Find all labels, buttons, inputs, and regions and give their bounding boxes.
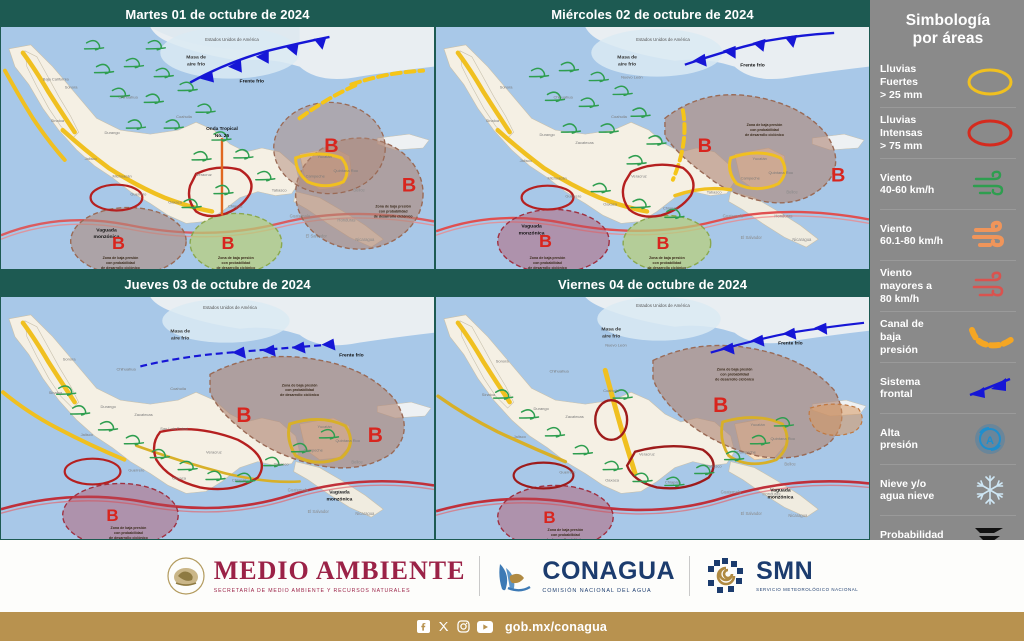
svg-text:Nicaragua: Nicaragua [788, 513, 808, 518]
svg-text:con probabilidad: con probabilidad [285, 388, 314, 392]
svg-text:B: B [656, 233, 669, 253]
svg-text:monzónica: monzónica [326, 496, 352, 502]
svg-text:aire frío: aire frío [602, 334, 620, 340]
svg-text:Zona de baja presión: Zona de baja presión [282, 383, 318, 387]
svg-text:Yucatán: Yucatán [751, 422, 765, 427]
svg-text:Honduras: Honduras [762, 491, 780, 496]
svg-text:Durango: Durango [534, 406, 550, 411]
svg-text:Honduras: Honduras [337, 217, 355, 222]
svg-text:A: A [986, 435, 994, 447]
legend-line-3: 80 km/h [880, 293, 919, 305]
svg-text:B: B [324, 135, 338, 157]
legend-item-sistema-frontal[interactable]: Sistema frontal [880, 362, 1016, 413]
svg-text:Estados Unidos de América: Estados Unidos de América [636, 37, 690, 42]
legend-line-2: 60.1-80 km/h [880, 235, 943, 247]
svg-text:de desarrollo ciclónico: de desarrollo ciclónico [109, 536, 149, 539]
legend-line-1: Lluvias [880, 114, 916, 126]
svg-text:con probabilidad: con probabilidad [750, 128, 779, 132]
svg-text:Zacatecas: Zacatecas [565, 414, 583, 419]
legend-line-2: frontal [880, 388, 913, 400]
cold-front-icon [964, 369, 1016, 407]
svg-text:aire frío: aire frío [618, 62, 636, 68]
svg-text:Nuevo León: Nuevo León [605, 343, 626, 348]
svg-text:Jalisco: Jalisco [81, 432, 94, 437]
logo-conagua: CONAGUA COMISIÓN NACIONAL DEL AGUA [480, 556, 689, 596]
trough-dashed-icon [964, 318, 1016, 356]
svg-text:San Luis Potosí: San Luis Potosí [160, 426, 189, 431]
panel-2-map[interactable]: Estados Unidos de América Masa de aire f… [436, 27, 869, 269]
legend-title: Simbología por áreas [880, 6, 1016, 57]
svg-text:Chiapas: Chiapas [663, 205, 678, 210]
svg-text:aire frío: aire frío [171, 336, 189, 342]
conagua-eagle-icon [494, 556, 534, 596]
svg-text:Chiapas: Chiapas [665, 479, 680, 484]
legend-line-2: mayores a [880, 280, 932, 292]
svg-text:Belice: Belice [784, 462, 796, 467]
svg-text:Honduras: Honduras [329, 489, 347, 494]
svg-text:de desarrollo ciclónico: de desarrollo ciclónico [280, 393, 320, 397]
svg-text:Zona de baja presión: Zona de baja presión [530, 256, 566, 260]
svg-text:B: B [106, 506, 118, 525]
svg-text:con probabilidad: con probabilidad [106, 261, 135, 265]
legend-line-1: Nieve y/o [880, 478, 926, 490]
svg-text:de desarrollo ciclónico: de desarrollo ciclónico [101, 266, 141, 269]
svg-text:Frente frío: Frente frío [240, 79, 265, 85]
svg-text:Sinaloa: Sinaloa [482, 392, 496, 397]
legend-line-2: 40-60 km/h [880, 184, 934, 196]
svg-text:No. 25: No. 25 [215, 133, 230, 139]
svg-text:Nicaragua: Nicaragua [355, 511, 375, 516]
svg-text:Guatemala: Guatemala [721, 489, 742, 494]
svg-text:con probabilidad: con probabilidad [720, 372, 749, 376]
svg-text:Chihuahua: Chihuahua [118, 94, 138, 99]
svg-text:Sonora: Sonora [500, 84, 514, 89]
social-bar: gob.mx/conagua [0, 612, 1024, 641]
maps-grid: Martes 01 de octubre de 2024 [0, 0, 870, 540]
svg-text:Tabasco: Tabasco [272, 188, 288, 193]
legend-list: Lluvias Fuertes > 25 mm Lluvias Intensas… [880, 57, 1016, 566]
svg-text:Quintana Roo: Quintana Roo [335, 438, 360, 443]
svg-text:Yucatán: Yucatán [753, 156, 767, 161]
svg-text:Veracruz: Veracruz [196, 172, 212, 177]
svg-text:Zona de baja presión: Zona de baja presión [548, 528, 584, 532]
svg-text:con probabilidad: con probabilidad [551, 533, 580, 537]
svg-text:B: B [368, 424, 383, 447]
svg-text:Sinaloa: Sinaloa [486, 118, 500, 123]
svg-text:Sinaloa: Sinaloa [49, 390, 63, 395]
svg-text:Zona de baja presión: Zona de baja presión [218, 256, 254, 260]
svg-text:Tabasco: Tabasco [707, 464, 723, 469]
svg-text:Estados Unidos de América: Estados Unidos de América [203, 305, 257, 310]
legend-label-viento-60-80: Viento 60.1-80 km/h [880, 223, 960, 248]
svg-text:Sonora: Sonora [65, 84, 79, 89]
svg-text:Campeche: Campeche [737, 450, 757, 455]
legend-line-2: Fuertes [880, 76, 918, 88]
medio-ambiente-title: MEDIO AMBIENTE [214, 558, 466, 584]
svg-text:Oaxaca: Oaxaca [605, 477, 619, 482]
weather-forecast-infographic: Martes 01 de octubre de 2024 [0, 0, 1024, 641]
legend-line-3: > 25 mm [880, 89, 922, 101]
legend-label-viento-mayores-80: Viento mayores a 80 km/h [880, 267, 960, 305]
panel-1-title: Martes 01 de octubre de 2024 [1, 1, 434, 27]
svg-text:El Salvador: El Salvador [741, 511, 763, 516]
legend-line-3: > 75 mm [880, 140, 922, 152]
legend-line-1: Alta [880, 427, 900, 439]
legend-item-alta-presion[interactable]: Alta presión A [880, 413, 1016, 464]
svg-text:Oaxaca: Oaxaca [172, 475, 186, 480]
svg-text:Chihuahua: Chihuahua [116, 366, 136, 371]
instagram-icon[interactable] [457, 620, 470, 633]
panel-2-title: Miércoles 02 de octubre de 2024 [436, 1, 869, 27]
youtube-icon[interactable] [477, 621, 493, 633]
svg-text:de desarrollo ciclónico: de desarrollo ciclónico [745, 133, 785, 137]
legend-line-1: Viento [880, 172, 912, 184]
svg-text:Yucatán: Yucatán [318, 424, 332, 429]
legend-line-1: Canal de [880, 318, 924, 330]
svg-text:Belice: Belice [353, 188, 365, 193]
svg-text:B: B [402, 175, 416, 197]
svg-text:Veracruz: Veracruz [206, 450, 222, 455]
svg-text:Chiapas: Chiapas [228, 204, 243, 209]
svg-text:Coahuila: Coahuila [176, 114, 192, 119]
x-icon[interactable] [437, 620, 450, 633]
svg-text:Durango: Durango [540, 132, 556, 137]
svg-text:Michoacán: Michoacán [112, 174, 131, 179]
svg-text:Jalisco: Jalisco [520, 158, 533, 163]
svg-text:de desarrollo ciclónico: de desarrollo ciclónico [528, 266, 568, 269]
svg-text:Zacatecas: Zacatecas [575, 140, 593, 145]
wind-red-icon [964, 267, 1016, 305]
smn-title: SMN [756, 559, 858, 584]
svg-text:Nicaragua: Nicaragua [355, 237, 375, 242]
svg-text:Baja California: Baja California [43, 77, 70, 82]
svg-text:El Salvador: El Salvador [741, 235, 763, 240]
legend-label-viento-40-60: Viento 40-60 km/h [880, 172, 960, 197]
medio-ambiente-subtitle: SECRETARÍA DE MEDIO AMBIENTE Y RECURSOS … [214, 588, 466, 594]
svg-text:Quintana Roo: Quintana Roo [770, 436, 795, 441]
svg-text:con probabilidad: con probabilidad [379, 209, 408, 213]
svg-text:Coahuila: Coahuila [603, 388, 619, 393]
legend-label-canal-baja-presion: Canal de baja presión [880, 318, 960, 356]
map-panel-4[interactable]: Viernes 04 de octubre de 2024 [435, 270, 870, 540]
svg-text:B: B [236, 404, 251, 427]
panel-3-map[interactable]: Estados Unidos de América Masa de aire f… [1, 297, 434, 539]
legend-line-1: Viento [880, 223, 912, 235]
legend-label-nieve: Nieve y/o agua nieve [880, 478, 960, 503]
svg-text:Zona de baja presión: Zona de baja presión [747, 123, 783, 127]
svg-text:Zona de baja presión: Zona de baja presión [111, 526, 147, 530]
legend-label-alta-presion: Alta presión [880, 427, 960, 452]
svg-text:Nicaragua: Nicaragua [792, 237, 812, 242]
svg-text:de desarrollo ciclónico: de desarrollo ciclónico [715, 377, 755, 381]
svg-text:Coahuila: Coahuila [611, 114, 627, 119]
svg-text:Tabasco: Tabasco [274, 462, 290, 467]
legend-item-viento-60-80[interactable]: Viento 60.1-80 km/h [880, 209, 1016, 260]
svg-text:B: B [698, 135, 712, 157]
legend-item-viento-mayores-80[interactable]: Viento mayores a 80 km/h [880, 260, 1016, 311]
svg-text:Frente frío: Frente frío [339, 353, 364, 359]
legend-item-viento-40-60[interactable]: Viento 40-60 km/h [880, 158, 1016, 209]
legend-line-2: Intensas [880, 127, 923, 139]
svg-text:Jalisco: Jalisco [85, 156, 98, 161]
social-url-label[interactable]: gob.mx/conagua [505, 620, 607, 634]
svg-text:de desarrollo ciclónico: de desarrollo ciclónico [374, 214, 414, 218]
svg-text:Frente frío: Frente frío [778, 341, 803, 347]
svg-text:con probabilidad: con probabilidad [533, 261, 562, 265]
legend-line-1: Sistema [880, 376, 920, 388]
map-panel-2[interactable]: Miércoles 02 de octubre de 2024 [435, 0, 870, 270]
svg-text:El Salvador: El Salvador [306, 233, 328, 238]
svg-text:Chiapas: Chiapas [232, 477, 247, 482]
svg-text:B: B [221, 233, 234, 253]
legend-item-nieve[interactable]: Nieve y/o agua nieve [880, 464, 1016, 515]
svg-text:aire frío: aire frío [187, 62, 205, 68]
svg-text:Campeche: Campeche [741, 176, 761, 181]
legend-line-1: Probabilidad [880, 529, 944, 541]
svg-text:Oaxaca: Oaxaca [168, 200, 182, 205]
svg-text:B: B [112, 233, 125, 253]
svg-text:Quintana Roo: Quintana Roo [333, 168, 358, 173]
footer-logos: MEDIO AMBIENTE SECRETARÍA DE MEDIO AMBIE… [0, 540, 1024, 612]
svg-text:Durango: Durango [101, 404, 117, 409]
svg-text:Durango: Durango [105, 130, 121, 135]
svg-text:B: B [713, 394, 728, 417]
svg-text:Masa de: Masa de [186, 55, 206, 61]
logo-medio-ambiente: MEDIO AMBIENTE SECRETARÍA DE MEDIO AMBIE… [152, 556, 480, 596]
svg-text:con probabilidad: con probabilidad [114, 531, 143, 535]
svg-text:Masa de: Masa de [617, 55, 637, 61]
legend-line-2: baja [880, 331, 901, 343]
legend-label-lluvias-fuertes: Lluvias Fuertes > 25 mm [880, 63, 960, 101]
svg-text:Guerrero: Guerrero [565, 194, 582, 199]
wind-orange-icon [964, 216, 1016, 254]
svg-text:de desarrollo ciclónico: de desarrollo ciclónico [647, 266, 687, 269]
ellipse-yellow-icon [964, 63, 1016, 101]
svg-text:El Salvador: El Salvador [308, 509, 330, 514]
svg-text:Coahuila: Coahuila [170, 386, 186, 391]
svg-text:Guatemala: Guatemala [290, 213, 311, 218]
ellipse-red-icon [964, 114, 1016, 152]
legend-label-sistema-frontal: Sistema frontal [880, 376, 960, 401]
svg-text:Frente frío: Frente frío [740, 63, 765, 69]
high-pressure-icon: A [964, 420, 1016, 458]
svg-text:Belice: Belice [786, 190, 798, 195]
svg-text:Honduras: Honduras [774, 213, 792, 218]
svg-text:Sinaloa: Sinaloa [51, 118, 65, 123]
panel-1-map[interactable]: Estados Unidos de América Masa de aire f… [1, 27, 434, 269]
svg-text:Vaguada: Vaguada [521, 223, 542, 229]
svg-text:de desarrollo ciclónico: de desarrollo ciclónico [546, 538, 586, 539]
svg-text:Masa de: Masa de [170, 329, 190, 335]
panel-1-usa-label: Estados Unidos de América [205, 37, 259, 42]
svg-text:Zona de baja presión: Zona de baja presión [717, 367, 753, 371]
legend-label-lluvias-intensas: Lluvias Intensas > 75 mm [880, 114, 960, 152]
legend-title-line1: Simbología [906, 12, 991, 29]
svg-text:con probabilidad: con probabilidad [653, 261, 682, 265]
conagua-title: CONAGUA [542, 559, 675, 584]
smn-subtitle: SERVICIO METEOROLÓGICO NACIONAL [756, 587, 858, 594]
svg-text:Zona de baja presión: Zona de baja presión [375, 205, 411, 209]
smn-spiral-icon [704, 556, 748, 596]
legend-panel: Simbología por áreas Lluvias Fuertes > 2… [870, 0, 1024, 540]
svg-text:Onda Tropical: Onda Tropical [206, 126, 238, 132]
svg-text:Chihuahua: Chihuahua [549, 368, 569, 373]
svg-text:Zacatecas: Zacatecas [134, 412, 152, 417]
map-panel-1[interactable]: Martes 01 de octubre de 2024 [0, 0, 435, 270]
svg-text:con probabilidad: con probabilidad [222, 261, 251, 265]
mexico-coat-of-arms-icon [166, 556, 206, 596]
logo-smn: SMN SERVICIO METEOROLÓGICO NACIONAL [690, 556, 872, 596]
wind-green-icon [964, 165, 1016, 203]
svg-text:de desarrollo ciclónico: de desarrollo ciclónico [216, 266, 256, 269]
svg-text:Veracruz: Veracruz [631, 174, 647, 179]
panel-4-title: Viernes 04 de octubre de 2024 [436, 271, 869, 297]
svg-text:Michoacán: Michoacán [547, 176, 566, 181]
legend-line-3: presión [880, 344, 918, 356]
legend-item-canal-baja-presion[interactable]: Canal de baja presión [880, 311, 1016, 362]
conagua-subtitle: COMISIÓN NACIONAL DEL AGUA [542, 588, 675, 594]
legend-item-lluvias-fuertes[interactable]: Lluvias Fuertes > 25 mm [880, 57, 1016, 107]
svg-text:Jalisco: Jalisco [514, 434, 527, 439]
panel-3-title: Jueves 03 de octubre de 2024 [1, 271, 434, 297]
legend-item-lluvias-intensas[interactable]: Lluvias Intensas > 75 mm [880, 107, 1016, 158]
svg-text:Tabasco: Tabasco [707, 190, 723, 195]
svg-text:Zona de baja presión: Zona de baja presión [649, 256, 685, 260]
svg-text:Estados Unidos de América: Estados Unidos de América [636, 303, 690, 308]
svg-text:Oaxaca: Oaxaca [603, 202, 617, 207]
svg-text:B: B [831, 165, 845, 187]
svg-text:Sonora: Sonora [63, 356, 77, 361]
svg-text:B: B [543, 508, 555, 527]
svg-text:Guatemala: Guatemala [723, 213, 744, 218]
svg-text:Campeche: Campeche [304, 448, 324, 453]
svg-text:Belice: Belice [351, 460, 363, 465]
svg-text:Zona de baja presión: Zona de baja presión [103, 256, 139, 260]
svg-text:Chihuahua: Chihuahua [553, 94, 573, 99]
legend-line-1: Lluvias [880, 63, 916, 75]
svg-text:Masa de: Masa de [601, 327, 621, 333]
svg-text:Guerrero: Guerrero [130, 192, 147, 197]
facebook-icon[interactable] [417, 620, 430, 633]
svg-text:Guerrero: Guerrero [128, 468, 145, 473]
legend-line-1: Viento [880, 267, 912, 279]
snowflake-icon [964, 471, 1016, 509]
svg-text:Guerrero: Guerrero [559, 470, 576, 475]
svg-text:Quintana Roo: Quintana Roo [768, 170, 793, 175]
svg-text:Nuevo León: Nuevo León [621, 75, 642, 80]
svg-text:Veracruz: Veracruz [639, 452, 655, 457]
svg-text:Guatemala: Guatemala [288, 487, 309, 492]
panel-4-map[interactable]: Estados Unidos de América Masa de aire f… [436, 297, 869, 539]
svg-text:Sonora: Sonora [496, 358, 510, 363]
svg-text:Campeche: Campeche [306, 174, 326, 179]
map-panel-3[interactable]: Jueves 03 de octubre de 2024 [0, 270, 435, 540]
svg-text:B: B [539, 231, 552, 251]
legend-line-2: presión [880, 439, 918, 451]
legend-title-line2: por áreas [913, 30, 984, 47]
legend-line-2: agua nieve [880, 490, 934, 502]
